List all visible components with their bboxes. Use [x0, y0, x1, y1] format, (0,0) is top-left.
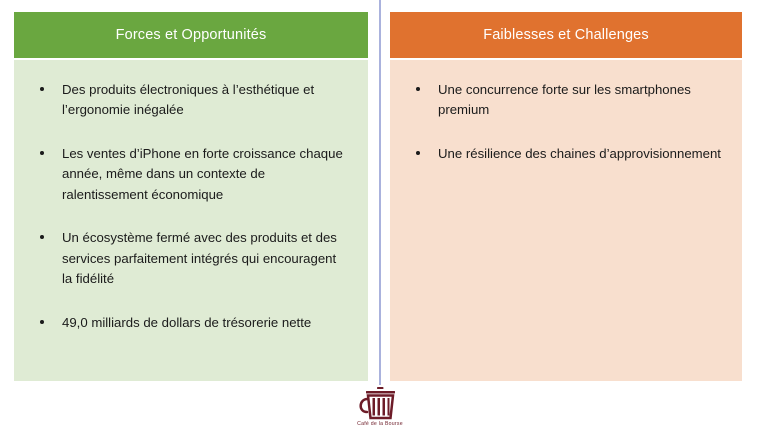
list-item: 49,0 milliards de dollars de trésorerie …	[32, 313, 350, 333]
coffee-cup-icon	[353, 387, 407, 420]
weaknesses-header: Faiblesses et Challenges	[390, 12, 742, 58]
list-item: Une concurrence forte sur les smartphone…	[408, 80, 724, 121]
list-item-text: Les ventes d’iPhone en forte croissance …	[62, 146, 343, 202]
strengths-column: Forces et Opportunités Des produits élec…	[14, 12, 368, 381]
strengths-header: Forces et Opportunités	[14, 12, 368, 58]
list-item: Une résilience des chaines d’approvision…	[408, 144, 724, 164]
swot-slide: Forces et Opportunités Des produits élec…	[0, 0, 760, 435]
list-item: Les ventes d’iPhone en forte croissance …	[32, 144, 350, 205]
bullet-dot-icon	[416, 151, 420, 155]
list-item-text: 49,0 milliards de dollars de trésorerie …	[62, 315, 311, 330]
list-item-text: Une concurrence forte sur les smartphone…	[438, 82, 691, 117]
list-item: Un écosystème fermé avec des produits et…	[32, 228, 350, 289]
strengths-body: Des produits électroniques à l’esthétiqu…	[14, 60, 368, 381]
strengths-bullet-list: Des produits électroniques à l’esthétiqu…	[32, 80, 350, 333]
bullet-dot-icon	[40, 320, 44, 324]
bullet-dot-icon	[40, 87, 44, 91]
list-item-text: Un écosystème fermé avec des produits et…	[62, 230, 337, 286]
strengths-title: Forces et Opportunités	[116, 27, 267, 43]
weaknesses-body: Une concurrence forte sur les smartphone…	[390, 60, 742, 381]
footer-logo: Café de la Bourse	[0, 387, 760, 427]
bullet-dot-icon	[40, 151, 44, 155]
weaknesses-bullet-list: Une concurrence forte sur les smartphone…	[408, 80, 724, 164]
logo-caption: Café de la Bourse	[357, 421, 403, 427]
column-divider	[379, 0, 381, 385]
list-item-text: Des produits électroniques à l’esthétiqu…	[62, 82, 314, 117]
weaknesses-title: Faiblesses et Challenges	[483, 27, 649, 43]
bullet-dot-icon	[40, 235, 44, 239]
list-item-text: Une résilience des chaines d’approvision…	[438, 146, 721, 161]
weaknesses-column: Faiblesses et Challenges Une concurrence…	[390, 12, 742, 381]
bullet-dot-icon	[416, 87, 420, 91]
list-item: Des produits électroniques à l’esthétiqu…	[32, 80, 350, 121]
